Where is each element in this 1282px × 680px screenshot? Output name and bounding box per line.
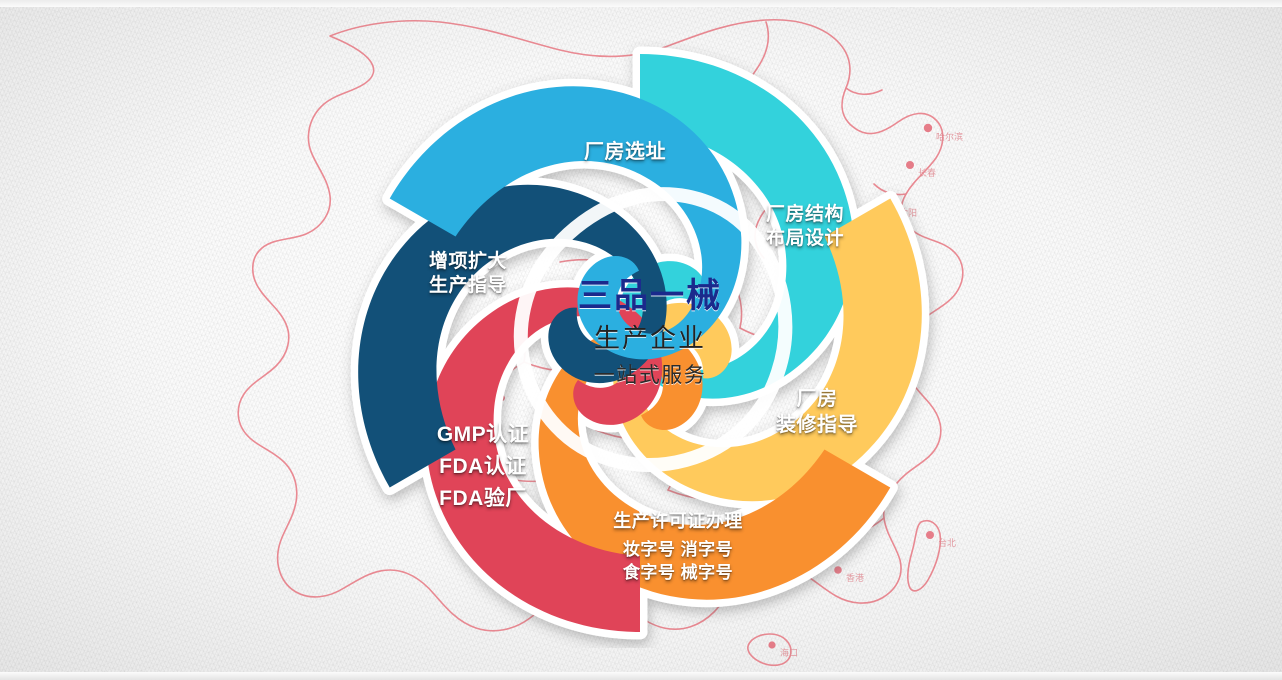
- svg-text:海口: 海口: [780, 647, 798, 659]
- top-edge-strip: [0, 0, 1282, 7]
- bottom-edge-strip: [0, 672, 1282, 680]
- infographic-canvas: 哈尔滨 长春 沈阳 北京 台北 香港 海口: [0, 0, 1282, 680]
- pinwheel-diagram: [330, 38, 950, 648]
